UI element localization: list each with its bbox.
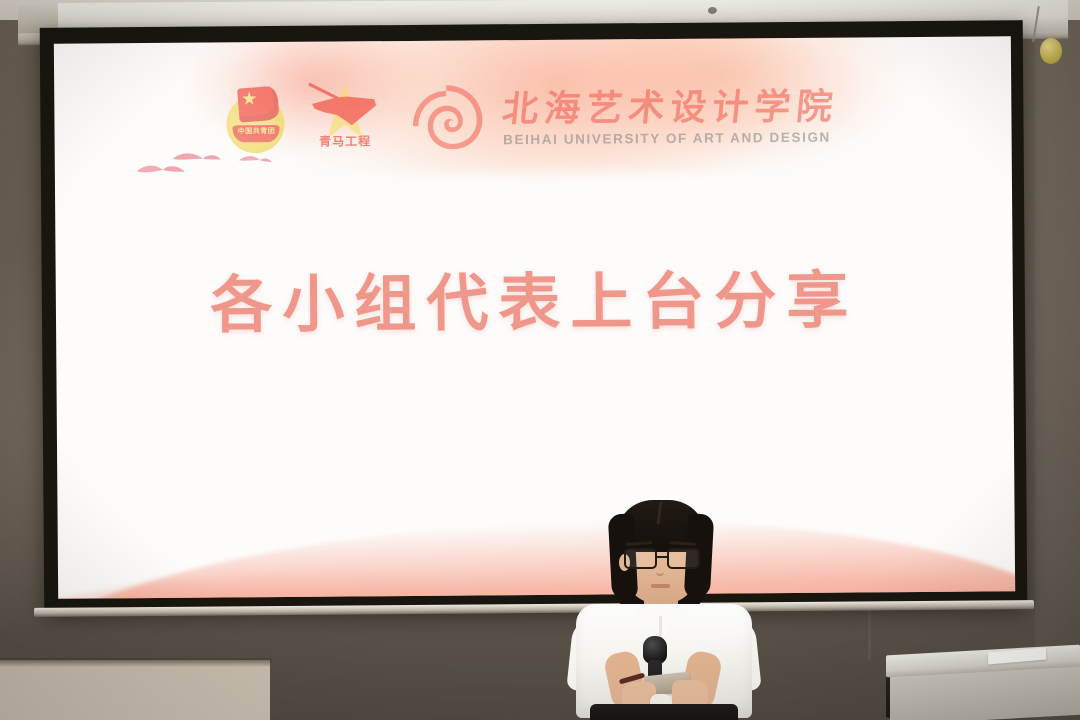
black-pants	[590, 704, 738, 720]
classroom-photo: 中国共青团 青马工程 北海艺术设计学院 BEIHAI UNIVERSITY OF…	[0, 0, 1080, 720]
nose	[656, 566, 664, 576]
projection-screen: 中国共青团 青马工程 北海艺术设计学院 BEIHAI UNIVERSITY OF…	[40, 20, 1028, 613]
wainscot-panel	[0, 660, 270, 720]
beihai-spiral-logo-icon	[405, 80, 490, 159]
university-name-cn: 北海艺术设计学院	[501, 89, 841, 129]
qingma-project-emblem-icon: 青马工程	[305, 84, 386, 157]
slide-logo-header: 中国共青团 青马工程 北海艺术设计学院 BEIHAI UNIVERSITY OF…	[54, 76, 1012, 162]
housing-screw	[708, 7, 717, 14]
emblem-ribbon-text: 中国共青团	[233, 126, 280, 136]
slide-bottom-wave-primary	[54, 507, 1015, 599]
mouth	[651, 584, 670, 588]
glasses-bridge	[657, 556, 667, 558]
university-name-en: BEIHAI UNIVERSITY OF ART AND DESIGN	[503, 129, 839, 147]
screen-pull-knob-icon[interactable]	[1040, 38, 1062, 64]
student-presenter	[560, 496, 770, 720]
emblem-ribbon: 中国共青团	[233, 125, 280, 142]
wall-panel-seam-right	[1035, 20, 1080, 720]
slide-title: 各小组代表上台分享	[56, 248, 1014, 346]
emblem-flag	[238, 86, 281, 123]
qingma-caption: 青马工程	[305, 132, 385, 150]
university-name-block: 北海艺术设计学院 BEIHAI UNIVERSITY OF ART AND DE…	[503, 89, 839, 147]
communist-youth-league-emblem-icon: 中国共青团	[227, 85, 290, 157]
glasses-lens-left	[624, 548, 657, 569]
glasses-lens-right	[667, 548, 700, 569]
presentation-slide: 中国共青团 青马工程 北海艺术设计学院 BEIHAI UNIVERSITY OF…	[54, 36, 1015, 598]
